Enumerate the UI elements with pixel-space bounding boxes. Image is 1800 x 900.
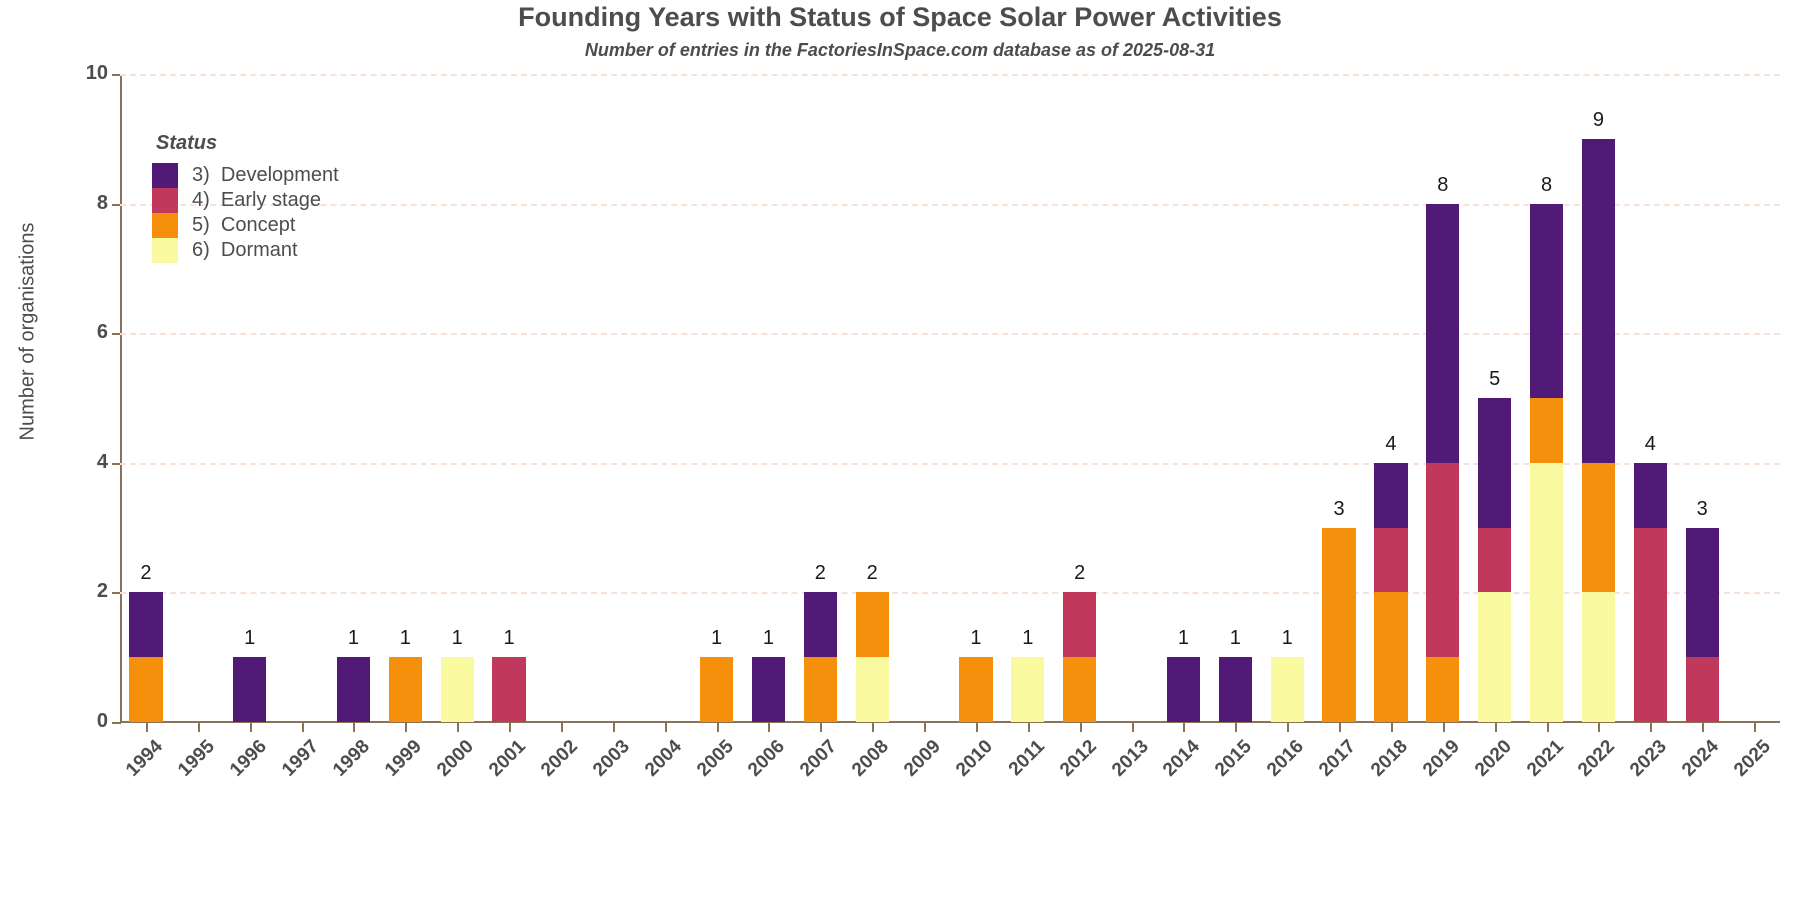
bar-segment[interactable] [233, 657, 266, 722]
legend-item[interactable]: 6) Dormant [152, 238, 339, 263]
bar-segment[interactable] [1582, 592, 1615, 722]
x-tick-mark [1443, 723, 1445, 732]
x-tick-mark [457, 723, 459, 732]
bar-group[interactable] [907, 74, 940, 722]
bar-segment[interactable] [389, 657, 422, 722]
legend-swatch-icon [152, 188, 178, 213]
x-tick-mark [1547, 723, 1549, 732]
x-tick-mark [302, 723, 304, 732]
x-tick-mark [1287, 723, 1289, 732]
bar-segment[interactable] [129, 592, 162, 657]
bar-segment[interactable] [1530, 398, 1563, 463]
bar-group[interactable]: 1 [700, 74, 733, 722]
bar-group[interactable]: 4 [1374, 74, 1407, 722]
x-tick-mark [1754, 723, 1756, 732]
x-tick-mark [1235, 723, 1237, 732]
x-tick-mark [976, 723, 978, 732]
x-tick-mark [1495, 723, 1497, 732]
bar-segment[interactable] [1582, 139, 1615, 463]
y-axis-title: Number of organisations [17, 22, 40, 642]
bar-segment[interactable] [1271, 657, 1304, 722]
x-tick-mark [613, 723, 615, 732]
bar-group[interactable]: 8 [1530, 74, 1563, 722]
bar-group[interactable] [544, 74, 577, 722]
x-tick-mark [1650, 723, 1652, 732]
bar-group[interactable] [648, 74, 681, 722]
bar-segment[interactable] [492, 657, 525, 722]
x-tick-mark [1028, 723, 1030, 732]
bar-segment[interactable] [804, 657, 837, 722]
x-tick-mark [561, 723, 563, 732]
bar-segment[interactable] [1322, 528, 1355, 722]
legend-item-label: 5) Concept [192, 214, 295, 237]
bar-segment[interactable] [700, 657, 733, 722]
x-tick-mark [1132, 723, 1134, 732]
x-tick-mark [665, 723, 667, 732]
bar-group[interactable]: 1 [441, 74, 474, 722]
bar-segment[interactable] [1582, 463, 1615, 593]
y-tick-mark [112, 722, 121, 724]
legend-item[interactable]: 4) Early stage [152, 188, 339, 213]
y-tick-label: 6 [58, 321, 108, 344]
y-tick-label: 10 [58, 62, 108, 85]
bar-group[interactable]: 1 [1271, 74, 1304, 722]
bar-group[interactable]: 8 [1426, 74, 1459, 722]
y-tick-label: 4 [58, 451, 108, 474]
bar-segment[interactable] [129, 657, 162, 722]
bar-segment[interactable] [804, 592, 837, 657]
x-tick-mark [1391, 723, 1393, 732]
bar-segment[interactable] [1426, 463, 1459, 657]
bar-segment[interactable] [856, 592, 889, 657]
bar-segment[interactable] [856, 657, 889, 722]
legend-title: Status [156, 132, 339, 155]
bar-segment[interactable] [1530, 204, 1563, 398]
bar-group[interactable]: 9 [1582, 74, 1615, 722]
bar-group[interactable]: 4 [1634, 74, 1667, 722]
x-tick-mark [924, 723, 926, 732]
bar-group[interactable]: 1 [1219, 74, 1252, 722]
bar-segment[interactable] [1634, 528, 1667, 722]
bar-group[interactable]: 2 [1063, 74, 1096, 722]
x-tick-mark [820, 723, 822, 732]
bar-segment[interactable] [441, 657, 474, 722]
bar-segment[interactable] [1374, 592, 1407, 722]
bar-segment[interactable] [1063, 592, 1096, 657]
legend-swatch-icon [152, 163, 178, 188]
chart-root: Founding Years with Status of Space Sola… [0, 0, 1800, 900]
bar-segment[interactable] [1063, 657, 1096, 722]
legend-item[interactable]: 3) Development [152, 163, 339, 188]
bar-group[interactable] [1115, 74, 1148, 722]
legend-item-label: 4) Early stage [192, 189, 321, 212]
bar-group[interactable]: 2 [856, 74, 889, 722]
x-tick-mark [1339, 723, 1341, 732]
x-tick-mark [1183, 723, 1185, 732]
bar-group[interactable]: 5 [1478, 74, 1511, 722]
legend-item-label: 3) Development [192, 164, 339, 187]
x-tick-mark [146, 723, 148, 732]
x-tick-mark [872, 723, 874, 732]
x-tick-mark [353, 723, 355, 732]
y-tick-label: 8 [58, 192, 108, 215]
bar-segment[interactable] [1426, 657, 1459, 722]
bar-segment[interactable] [1478, 398, 1511, 528]
x-tick-mark [250, 723, 252, 732]
bar-segment[interactable] [1374, 528, 1407, 593]
bar-group[interactable]: 1 [959, 74, 992, 722]
bar-group[interactable]: 1 [752, 74, 785, 722]
bar-segment[interactable] [1478, 592, 1511, 722]
bar-segment[interactable] [1374, 463, 1407, 528]
bar-segment[interactable] [752, 657, 785, 722]
bar-group[interactable] [1737, 74, 1770, 722]
bar-group[interactable]: 1 [389, 74, 422, 722]
bar-group[interactable]: 1 [1011, 74, 1044, 722]
bar-segment[interactable] [1530, 463, 1563, 722]
bar-segment[interactable] [337, 657, 370, 722]
bar-segment[interactable] [1219, 657, 1252, 722]
x-tick-mark [1702, 723, 1704, 732]
chart-title: Founding Years with Status of Space Sola… [0, 2, 1800, 33]
x-tick-mark [198, 723, 200, 732]
bar-segment[interactable] [1011, 657, 1044, 722]
x-tick-mark [717, 723, 719, 732]
bar-segment[interactable] [1686, 528, 1719, 658]
bar-segment[interactable] [1167, 657, 1200, 722]
legend-swatch-icon [152, 238, 178, 263]
y-tick-label: 0 [58, 710, 108, 733]
bar-group[interactable] [596, 74, 629, 722]
x-tick-mark [1598, 723, 1600, 732]
bar-group[interactable]: 2 [804, 74, 837, 722]
bar-group[interactable]: 1 [337, 74, 370, 722]
bar-group[interactable]: 3 [1686, 74, 1719, 722]
legend-swatch-icon [152, 213, 178, 238]
bar-group[interactable]: 1 [1167, 74, 1200, 722]
legend: Status 3) Development4) Early stage5) Co… [152, 132, 339, 263]
bar-segment[interactable] [1686, 657, 1719, 722]
x-tick-mark [768, 723, 770, 732]
bar-group[interactable]: 1 [492, 74, 525, 722]
bar-segment[interactable] [1478, 528, 1511, 593]
legend-item[interactable]: 5) Concept [152, 213, 339, 238]
chart-subtitle: Number of entries in the FactoriesInSpac… [0, 40, 1800, 61]
bar-segment[interactable] [959, 657, 992, 722]
x-tick-mark [405, 723, 407, 732]
plot-area: 211111112211211134858943 [120, 74, 1780, 722]
x-tick-mark [509, 723, 511, 732]
x-tick-mark [1080, 723, 1082, 732]
bar-group[interactable]: 3 [1322, 74, 1355, 722]
legend-item-label: 6) Dormant [192, 239, 298, 262]
bar-segment[interactable] [1426, 204, 1459, 463]
